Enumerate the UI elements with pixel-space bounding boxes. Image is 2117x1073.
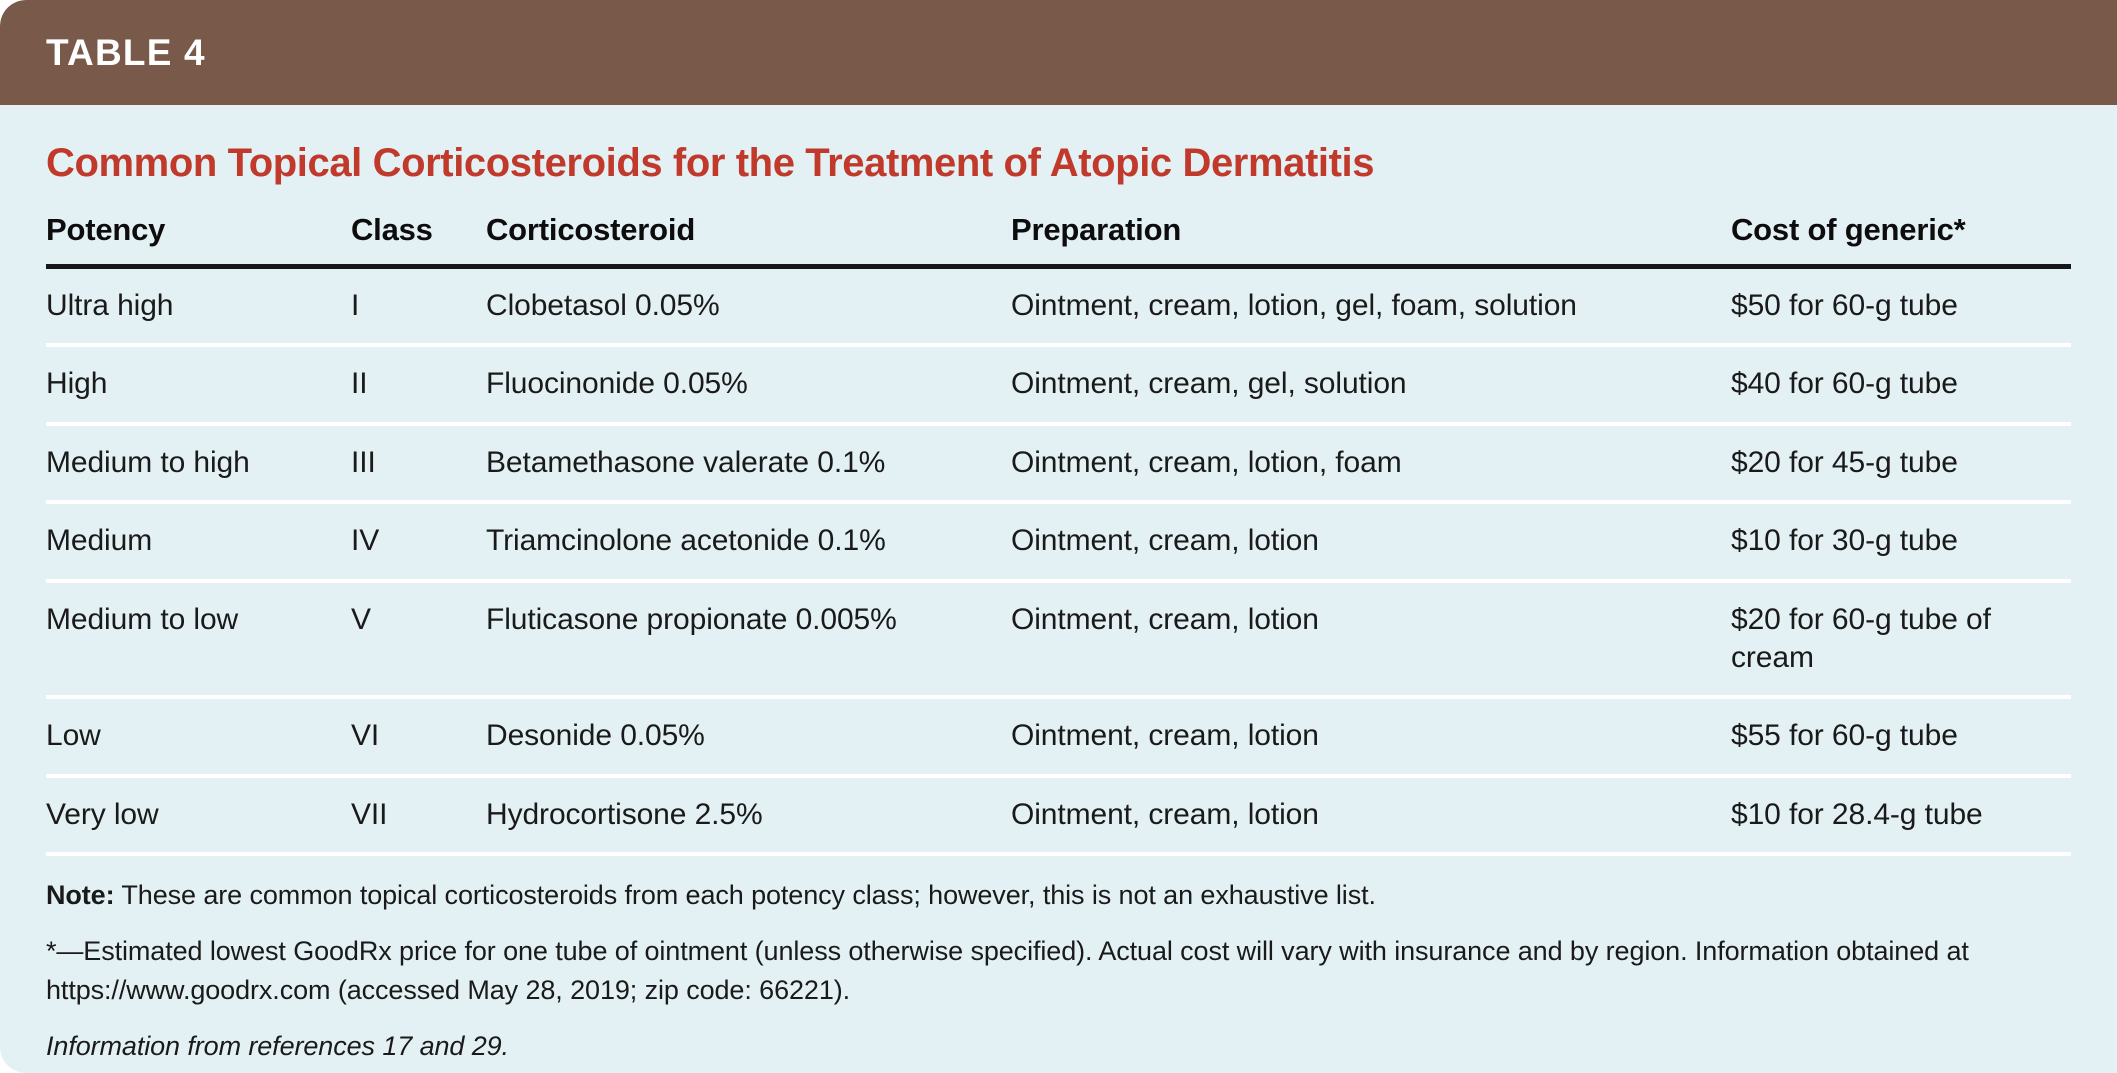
cell-potency: Very low xyxy=(46,776,351,854)
cell-class: III xyxy=(351,424,486,502)
cell-potency: High xyxy=(46,345,351,423)
cell-class: I xyxy=(351,267,486,346)
footnote-reference: Information from references 17 and 29. xyxy=(46,1027,2067,1065)
cell-cost: $20 for 60-g tube of cream xyxy=(1731,581,2071,698)
corticosteroids-table: Potency Class Corticosteroid Preparation… xyxy=(46,212,2071,856)
column-header-potency: Potency xyxy=(46,212,351,267)
cell-cost: $40 for 60-g tube xyxy=(1731,345,2071,423)
table-row: High II Fluocinonide 0.05% Ointment, cre… xyxy=(46,345,2071,423)
column-header-corticosteroid: Corticosteroid xyxy=(486,212,1011,267)
cell-corticosteroid: Clobetasol 0.05% xyxy=(486,267,1011,346)
column-header-cost: Cost of generic* xyxy=(1731,212,2071,267)
cell-potency: Medium xyxy=(46,502,351,580)
footnote-asterisk: *—Estimated lowest GoodRx price for one … xyxy=(46,932,2067,1009)
cell-preparation: Ointment, cream, lotion, gel, foam, solu… xyxy=(1011,267,1731,346)
cell-preparation: Ointment, cream, lotion xyxy=(1011,776,1731,854)
cell-potency: Medium to low xyxy=(46,581,351,698)
footnote-note: Note: These are common topical corticost… xyxy=(46,876,2067,914)
cell-preparation: Ointment, cream, lotion xyxy=(1011,697,1731,775)
table-footnotes: Note: These are common topical corticost… xyxy=(0,856,2117,1065)
table-grid: Potency Class Corticosteroid Preparation… xyxy=(0,212,2117,856)
cell-corticosteroid: Betamethasone valerate 0.1% xyxy=(486,424,1011,502)
cell-preparation: Ointment, cream, lotion, foam xyxy=(1011,424,1731,502)
cell-corticosteroid: Fluticasone propionate 0.005% xyxy=(486,581,1011,698)
cell-potency: Low xyxy=(46,697,351,775)
cell-class: VI xyxy=(351,697,486,775)
cell-potency: Ultra high xyxy=(46,267,351,346)
cell-preparation: Ointment, cream, gel, solution xyxy=(1011,345,1731,423)
footnote-note-text: These are common topical corticosteroids… xyxy=(115,880,1376,910)
cell-class: VII xyxy=(351,776,486,854)
cell-class: IV xyxy=(351,502,486,580)
table-row: Medium IV Triamcinolone acetonide 0.1% O… xyxy=(46,502,2071,580)
table-banner: TABLE 4 xyxy=(0,0,2117,105)
table-number-label: TABLE 4 xyxy=(46,32,206,74)
table-body: Ultra high I Clobetasol 0.05% Ointment, … xyxy=(46,267,2071,855)
table-title: Common Topical Corticosteroids for the T… xyxy=(0,105,2117,186)
cell-corticosteroid: Triamcinolone acetonide 0.1% xyxy=(486,502,1011,580)
cell-potency: Medium to high xyxy=(46,424,351,502)
table-row: Very low VII Hydrocortisone 2.5% Ointmen… xyxy=(46,776,2071,854)
cell-class: V xyxy=(351,581,486,698)
table-row: Medium to high III Betamethasone valerat… xyxy=(46,424,2071,502)
cell-corticosteroid: Hydrocortisone 2.5% xyxy=(486,776,1011,854)
table-header: Potency Class Corticosteroid Preparation… xyxy=(46,212,2071,267)
cell-cost: $20 for 45-g tube xyxy=(1731,424,2071,502)
footnote-note-label: Note: xyxy=(46,880,115,910)
column-header-class: Class xyxy=(351,212,486,267)
table-row: Low VI Desonide 0.05% Ointment, cream, l… xyxy=(46,697,2071,775)
cell-preparation: Ointment, cream, lotion xyxy=(1011,502,1731,580)
cell-cost: $50 for 60-g tube xyxy=(1731,267,2071,346)
table-card: TABLE 4 Common Topical Corticosteroids f… xyxy=(0,0,2117,1073)
cell-preparation: Ointment, cream, lotion xyxy=(1011,581,1731,698)
cell-corticosteroid: Desonide 0.05% xyxy=(486,697,1011,775)
cell-cost: $10 for 30-g tube xyxy=(1731,502,2071,580)
column-header-preparation: Preparation xyxy=(1011,212,1731,267)
cell-cost: $55 for 60-g tube xyxy=(1731,697,2071,775)
table-header-row: Potency Class Corticosteroid Preparation… xyxy=(46,212,2071,267)
table-row: Medium to low V Fluticasone propionate 0… xyxy=(46,581,2071,698)
cell-class: II xyxy=(351,345,486,423)
table-row: Ultra high I Clobetasol 0.05% Ointment, … xyxy=(46,267,2071,346)
cell-cost: $10 for 28.4-g tube xyxy=(1731,776,2071,854)
cell-corticosteroid: Fluocinonide 0.05% xyxy=(486,345,1011,423)
